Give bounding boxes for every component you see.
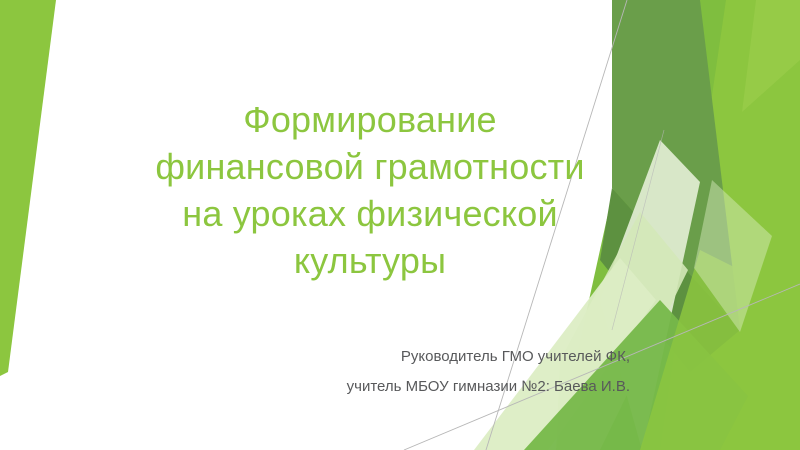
slide-content: Формирование финансовой грамотности на у…: [0, 0, 800, 450]
title-line-2: финансовой грамотности: [100, 143, 640, 190]
slide-title: Формирование финансовой грамотности на у…: [100, 96, 640, 284]
title-slide: Формирование финансовой грамотности на у…: [0, 0, 800, 450]
title-line-3: на уроках физической: [100, 190, 640, 237]
subtitle-line-1: Руководитель ГМО учителей ФК,: [160, 342, 630, 372]
slide-subtitle: Руководитель ГМО учителей ФК, учитель МБ…: [160, 342, 630, 402]
subtitle-line-2: учитель МБОУ гимназии №2: Баева И.В.: [160, 372, 630, 402]
title-line-4: культуры: [100, 237, 640, 284]
title-line-1: Формирование: [100, 96, 640, 143]
